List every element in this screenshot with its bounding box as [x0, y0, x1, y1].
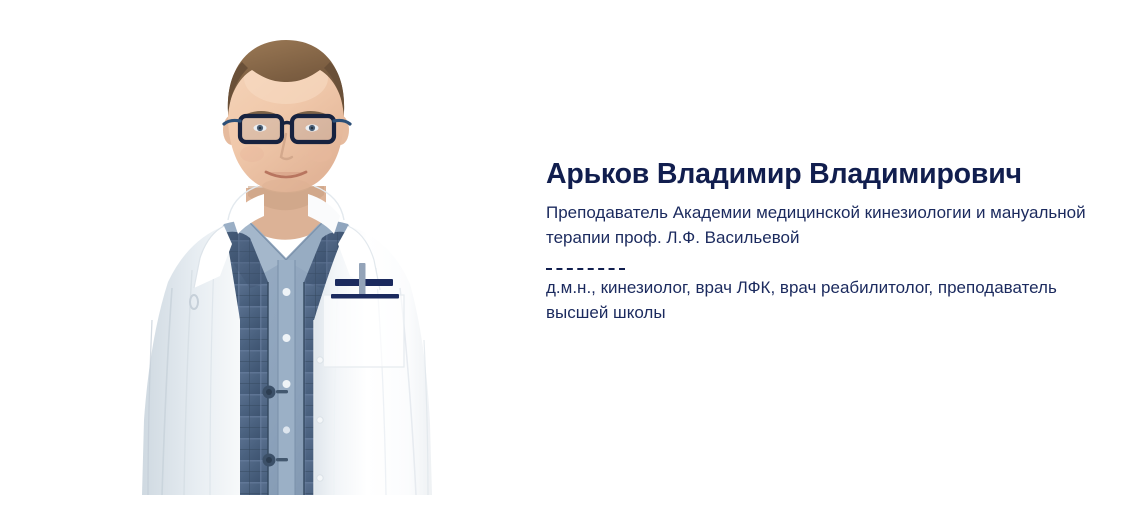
- doctor-portrait-photo: [128, 20, 444, 495]
- dashed-divider: [546, 268, 625, 270]
- doctor-profile-card: Арьков Владимир Владимирович Преподавате…: [0, 0, 1142, 520]
- doctor-name: Арьков Владимир Владимирович: [546, 158, 1112, 192]
- doctor-portrait-illustration: [128, 20, 444, 495]
- doctor-credentials: д.м.н., кинезиолог, врач ЛФК, врач реаби…: [546, 276, 1106, 326]
- doctor-info-block: Арьков Владимир Владимирович Преподавате…: [546, 158, 1112, 326]
- doctor-role: Преподаватель Академии медицинской кинез…: [546, 201, 1102, 251]
